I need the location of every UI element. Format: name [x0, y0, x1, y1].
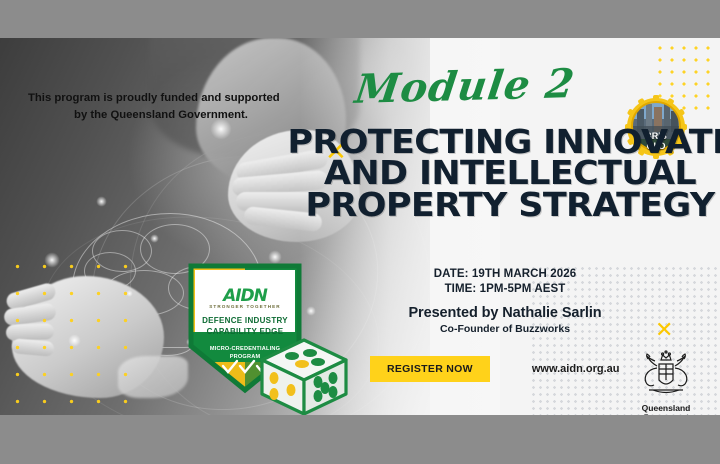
promotional-banner: ✕ ✕ This program is proudly funded and s…: [0, 0, 720, 464]
event-time: TIME: 1PM-5PM AEST: [300, 282, 710, 297]
letterbox-bar-top: [0, 0, 720, 38]
bokeh-particle: [96, 196, 107, 207]
event-date: DATE: 19TH MARCH 2026: [300, 267, 710, 282]
headline-line2: AND INTELLECTUAL: [287, 157, 720, 188]
register-now-button[interactable]: REGISTER NOW: [370, 356, 490, 382]
letterbox-bar-bottom: [0, 415, 720, 464]
presenter-role: Co-Founder of Buzzworks: [300, 323, 710, 335]
aidn-wordmark: AIDN: [185, 286, 305, 306]
artwork-stage: ✕ ✕ This program is proudly funded and s…: [0, 38, 720, 415]
page-title: PROTECTING INNOVATION AND INTELLECTUAL P…: [287, 126, 720, 220]
website-url[interactable]: www.aidn.org.au: [532, 363, 620, 375]
queensland-government-logo: Queensland Government: [628, 346, 704, 415]
headline-line3: PROPERTY STRATEGY: [287, 189, 720, 220]
program-line2: CAPABILITY EDGE: [185, 327, 305, 336]
presenter-name: Presented by Nathalie Sarlin: [300, 305, 710, 321]
bokeh-particle: [150, 234, 159, 243]
aidn-tagline: STRONGER TOGETHER: [185, 304, 305, 309]
funding-note-line1: This program is proudly funded and suppo…: [28, 90, 308, 107]
event-details: DATE: 19TH MARCH 2026 TIME: 1PM-5PM AEST…: [300, 267, 710, 335]
program-line1: DEFENCE INDUSTRY: [185, 316, 305, 325]
queensland-coat-of-arms-icon: [635, 346, 697, 402]
qld-gov-name: Queensland: [628, 403, 704, 413]
funding-note-line2: by the Queensland Government.: [28, 107, 308, 124]
module-label: Module 2: [296, 59, 633, 115]
funding-note: This program is proudly funded and suppo…: [28, 90, 308, 124]
dot-grid-bottom-left: [4, 253, 146, 413]
